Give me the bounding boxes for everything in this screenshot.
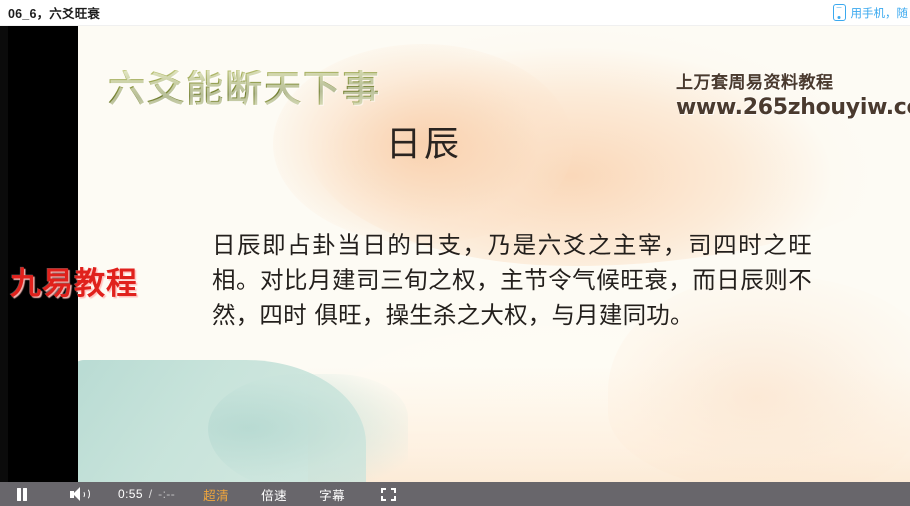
- video-player-app: 06_6，六爻旺衰 用手机，随 六爻能断天下事 日辰 日辰即占卦当日的日支，乃是…: [0, 0, 910, 506]
- slide-body-text: 日辰即占卦当日的日支，乃是六爻之主宰，司四时之旺相。对比月建司三旬之权，主节令气…: [212, 228, 812, 333]
- watermark-site-line2: www.265zhouyiw.com: [676, 95, 910, 120]
- background-wash-teal-secondary: [208, 374, 408, 482]
- time-total: -:--: [158, 487, 175, 501]
- player-control-bar: 0:55 / -:-- 超清 倍速 字幕: [0, 482, 910, 506]
- time-separator: /: [149, 487, 153, 501]
- mobile-hint-label: 用手机，随: [851, 5, 909, 21]
- slide-canvas: 六爻能断天下事 日辰 日辰即占卦当日的日支，乃是六爻之主宰，司四时之旺相。对比月…: [8, 26, 910, 482]
- pause-button[interactable]: [0, 482, 44, 506]
- watermark-site-line1: 上万套周易资料教程: [676, 68, 910, 93]
- letterbox-left-edge: [0, 26, 8, 506]
- fullscreen-button[interactable]: [377, 482, 399, 506]
- quality-button[interactable]: 超清: [203, 482, 229, 506]
- title-bar: 06_6，六爻旺衰 用手机，随: [0, 0, 910, 26]
- volume-button[interactable]: [58, 482, 102, 506]
- watermark-logo: 九易教程: [10, 258, 138, 303]
- video-stage[interactable]: 六爻能断天下事 日辰 日辰即占卦当日的日支，乃是六爻之主宰，司四时之旺相。对比月…: [0, 26, 910, 506]
- phone-icon: [833, 4, 846, 21]
- mobile-watch-hint[interactable]: 用手机，随: [833, 4, 909, 21]
- background-wash-teal: [66, 360, 366, 482]
- pause-icon: [17, 488, 28, 501]
- fullscreen-icon: [381, 488, 396, 501]
- background-wash-peach-bottom: [308, 366, 910, 482]
- time-current: 0:55: [118, 487, 143, 501]
- page-title: 06_6，六爻旺衰: [8, 3, 100, 22]
- watermark-site: 上万套周易资料教程 www.265zhouyiw.com: [676, 68, 910, 120]
- playback-speed-button[interactable]: 倍速: [261, 482, 287, 506]
- time-display: 0:55 / -:--: [118, 487, 175, 501]
- letterbox-left-bar: [8, 26, 78, 482]
- volume-icon: [70, 487, 90, 502]
- background-wash-cream: [348, 326, 768, 476]
- slide-subheading: 日辰: [386, 116, 462, 167]
- slide-heading: 六爻能断天下事: [108, 70, 381, 107]
- subtitle-button[interactable]: 字幕: [319, 482, 345, 506]
